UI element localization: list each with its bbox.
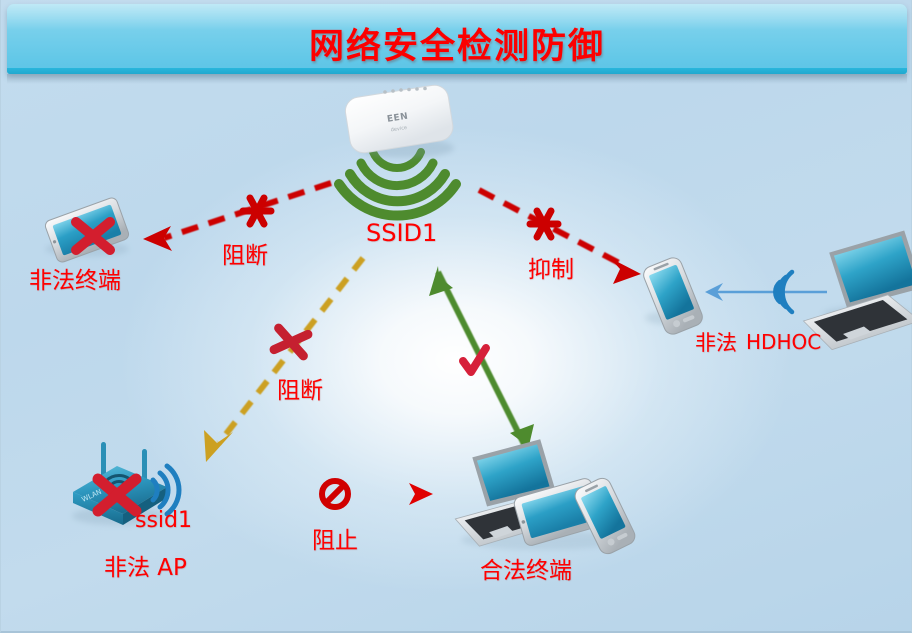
link-adhoc-laptop-to-phone	[705, 272, 827, 312]
rogue-adhoc-label-primary: 非法	[695, 327, 737, 357]
rogue-ap-label: 非法 AP	[104, 548, 187, 582]
link-label-block-ap: 阻断	[277, 371, 323, 405]
access-point-device: EEN device	[339, 83, 456, 215]
ap-signal-arcs	[339, 152, 456, 216]
link-label-block-terminal: 阻断	[222, 236, 268, 270]
rogue-ap-signal-arcs	[153, 466, 179, 514]
diagram-canvas: 网络安全检测防御	[0, 0, 912, 633]
link-block-ap	[204, 258, 363, 462]
topology-svg: EEN device	[1, 0, 912, 633]
rogue-adhoc-phone	[641, 255, 705, 337]
rogue-ap-ssid-label: ssid1	[135, 508, 192, 533]
legal-terminals-label: 合法终端	[480, 551, 572, 585]
link-allow-legal	[429, 266, 534, 454]
rogue-adhoc-label-secondary: HDHOC	[746, 330, 821, 354]
rogue-terminal-device	[44, 196, 130, 263]
ssid1-label: SSID1	[366, 219, 437, 247]
link-prevent-rogue-ap-to-legal	[214, 481, 433, 507]
link-label-suppress-adhoc: 抑制	[528, 250, 574, 284]
legal-terminals-group	[454, 438, 638, 556]
rogue-terminal-label: 非法终端	[29, 261, 121, 295]
red-asterisk-icon	[530, 211, 558, 237]
link-label-prevent: 阻止	[312, 521, 358, 555]
